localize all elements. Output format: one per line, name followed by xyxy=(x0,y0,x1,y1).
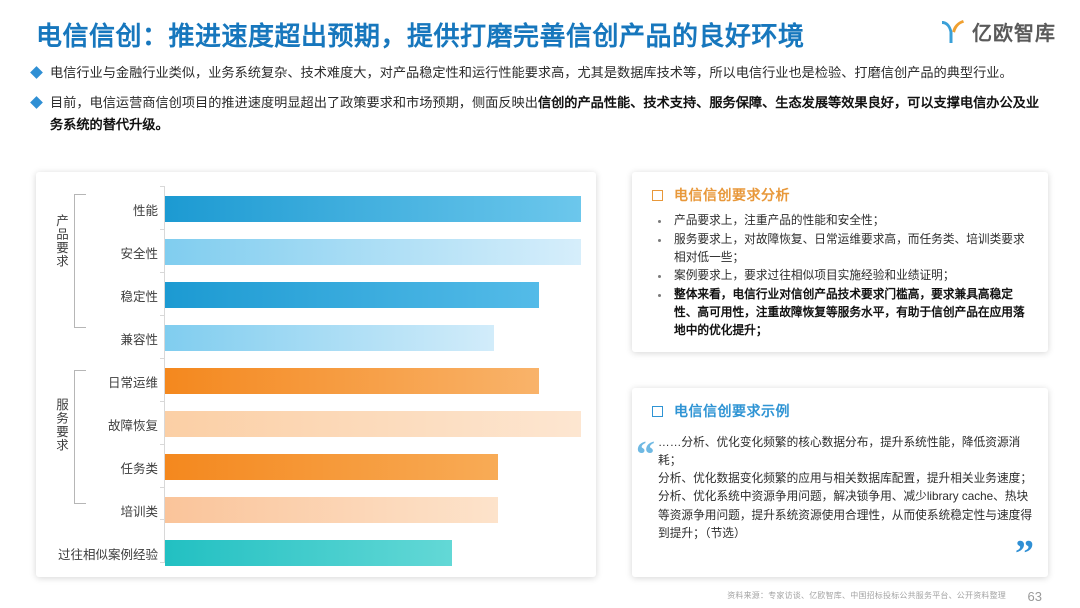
dot-bullet-icon xyxy=(658,294,661,297)
bar-row: 性能 xyxy=(36,192,596,226)
axis-tick xyxy=(160,358,165,359)
dot-bullet-icon xyxy=(658,239,661,242)
axis-tick xyxy=(160,186,165,187)
bar-row: 兼容性 xyxy=(36,321,596,355)
bar-row: 培训类 xyxy=(36,493,596,527)
bar-row: 任务类 xyxy=(36,450,596,484)
bar-label: 安全性 xyxy=(76,243,158,262)
bar-label: 稳定性 xyxy=(76,286,158,305)
bar-6 xyxy=(165,454,498,480)
bar-label: 日常运维 xyxy=(76,372,158,391)
bar-4 xyxy=(165,368,539,394)
analysis-heading-text: 电信信创要求分析 xyxy=(674,185,790,205)
axis-tick xyxy=(160,229,165,230)
brand-logo: 亿欧智库 xyxy=(938,14,1056,48)
bar-1 xyxy=(165,239,581,265)
bar-label: 故障恢复 xyxy=(76,415,158,434)
bar-label: 培训类 xyxy=(76,501,158,520)
bar-3 xyxy=(165,325,494,351)
square-bullet-icon xyxy=(652,406,663,417)
quote-close-icon: ” xyxy=(1015,535,1034,573)
quote-paragraph: ……分析、优化变化频繁的核心数据分布，提升系统性能，降低资源消耗； xyxy=(658,434,1032,470)
slide-root: 电信信创：推进速度超出预期，提供打磨完善信创产品的良好环境 亿欧智库 电信行业与… xyxy=(0,0,1080,608)
requirements-bar-chart-card: 产品要求 服务要求 性能 安全性 xyxy=(36,172,596,577)
quote-paragraph: 分析、优化数据变化频繁的应用与相关数据库配置，提升相关业务速度； xyxy=(658,470,1032,488)
slide-header: 电信信创：推进速度超出预期，提供打磨完善信创产品的良好环境 亿欧智库 xyxy=(0,0,1080,58)
axis-tick xyxy=(160,444,165,445)
axis-tick xyxy=(160,272,165,273)
bar-0 xyxy=(165,196,581,222)
chart-area: 产品要求 服务要求 性能 安全性 xyxy=(36,172,596,577)
logo-text: 亿欧智库 xyxy=(972,17,1056,46)
bar-row: 安全性 xyxy=(36,235,596,269)
list-item: 服务要求上，对故障恢复、日常运维要求高，而任务类、培训类要求相对低一些； xyxy=(654,231,1034,267)
bar-label: 兼容性 xyxy=(76,329,158,348)
axis-tick xyxy=(160,401,165,402)
list-item: 整体来看，电信行业对信创产品技术要求门槛高，要求兼具高稳定性、高可用性，注重故障… xyxy=(654,286,1034,339)
bar-2 xyxy=(165,282,539,308)
bar-7 xyxy=(165,497,498,523)
square-bullet-icon xyxy=(652,190,663,201)
example-heading: 电信信创要求示例 xyxy=(652,401,790,421)
dot-bullet-icon xyxy=(658,220,661,223)
bar-8 xyxy=(165,540,452,566)
example-heading-text: 电信信创要求示例 xyxy=(674,401,790,421)
bullet-text: 电信行业与金融行业类似，业务系统复杂、技术难度大，对产品稳定性和运行性能要求高，… xyxy=(50,65,1013,80)
intro-bullets: 电信行业与金融行业类似，业务系统复杂、技术难度大，对产品稳定性和运行性能要求高，… xyxy=(32,62,1048,144)
bar-label: 性能 xyxy=(76,200,158,219)
analysis-list: 产品要求上，注重产品的性能和安全性； 服务要求上，对故障恢复、日常运维要求高，而… xyxy=(654,212,1034,340)
bullet-text: 目前，电信运营商信创项目的推进速度明显超出了政策要求和市场预期，侧面反映出 xyxy=(50,95,538,110)
list-item: 产品要求上，注重产品的性能和安全性； xyxy=(654,212,1034,230)
axis-tick xyxy=(160,315,165,316)
bar-row: 过往相似案例经验 xyxy=(36,536,596,570)
diamond-bullet-icon xyxy=(30,97,43,110)
list-item-text: 产品要求上，注重产品的性能和安全性； xyxy=(674,212,884,230)
bullet-item: 目前，电信运营商信创项目的推进速度明显超出了政策要求和市场预期，侧面反映出信创的… xyxy=(32,92,1048,135)
example-quote-body: “ ……分析、优化变化频繁的核心数据分布，提升系统性能，降低资源消耗； 分析、优… xyxy=(658,434,1032,543)
dot-bullet-icon xyxy=(658,275,661,278)
list-item-text: 整体来看，电信行业对信创产品技术要求门槛高，要求兼具高稳定性、高可用性，注重故障… xyxy=(674,288,1025,337)
quote-paragraph: 分析、优化系统中资源争用问题，解决锁争用、减少library cache、热块等… xyxy=(658,488,1032,542)
axis-tick xyxy=(160,487,165,488)
list-item: 案例要求上，要求过往相似项目实施经验和业绩证明； xyxy=(654,267,1034,285)
yiou-logo-icon xyxy=(938,16,968,46)
bullet-item: 电信行业与金融行业类似，业务系统复杂、技术难度大，对产品稳定性和运行性能要求高，… xyxy=(32,62,1048,83)
list-item-text: 服务要求上，对故障恢复、日常运维要求高，而任务类、培训类要求相对低一些； xyxy=(674,231,1034,267)
quote-open-icon: “ xyxy=(636,436,655,474)
analysis-heading: 电信信创要求分析 xyxy=(652,185,790,205)
diamond-bullet-icon xyxy=(30,66,43,79)
analysis-panel: 电信信创要求分析 产品要求上，注重产品的性能和安全性； 服务要求上，对故障恢复、… xyxy=(632,172,1048,352)
page-title: 电信信创：推进速度超出预期，提供打磨完善信创产品的良好环境 xyxy=(36,16,805,53)
source-note: 资料来源：专家访谈、亿欧智库、中国招标投标公共服务平台、公开资料整理 xyxy=(727,590,1006,601)
bar-5 xyxy=(165,411,581,437)
bar-row: 故障恢复 xyxy=(36,407,596,441)
bar-row: 稳定性 xyxy=(36,278,596,312)
bar-row: 日常运维 xyxy=(36,364,596,398)
page-number: 63 xyxy=(1028,589,1042,604)
list-item-text: 案例要求上，要求过往相似项目实施经验和业绩证明； xyxy=(674,267,955,285)
bar-label: 任务类 xyxy=(76,458,158,477)
example-panel: 电信信创要求示例 “ ……分析、优化变化频繁的核心数据分布，提升系统性能，降低资… xyxy=(632,388,1048,577)
bar-label: 过往相似案例经验 xyxy=(44,544,158,563)
